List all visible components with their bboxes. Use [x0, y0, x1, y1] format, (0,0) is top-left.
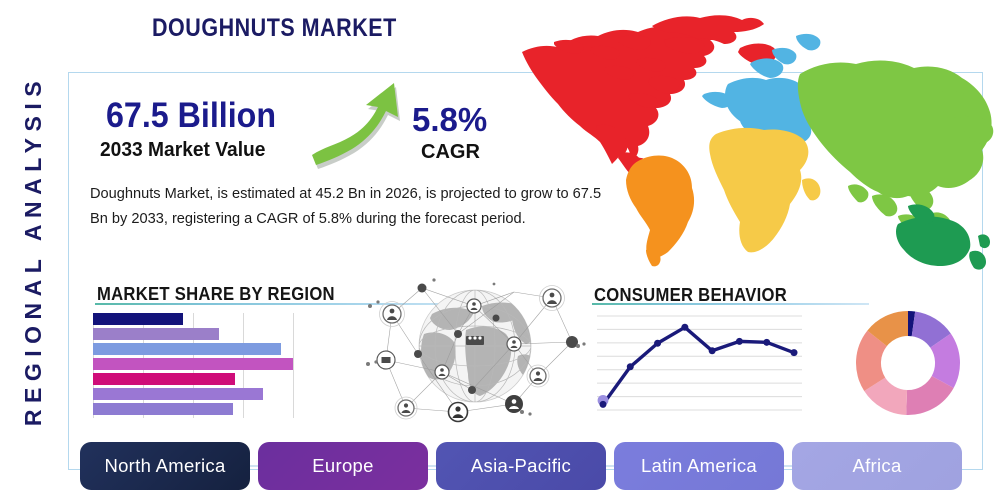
- bar-chart-row: [93, 343, 293, 355]
- bar-chart-bar: [93, 313, 183, 325]
- bar-chart-row: [93, 373, 293, 385]
- line-chart-marker: [736, 338, 743, 345]
- bar-chart-bar: [93, 388, 263, 400]
- line-chart-marker: [709, 347, 716, 354]
- cagr-figure: 5.8%: [412, 101, 487, 139]
- region-button-africa[interactable]: Africa: [792, 442, 962, 490]
- bar-chart-plot-area: [93, 313, 293, 418]
- line-chart-marker: [654, 340, 661, 347]
- bar-chart-row: [93, 313, 293, 325]
- cagr-caption: CAGR: [421, 141, 480, 164]
- line-chart-marker: [600, 401, 607, 408]
- donut-chart-plot-area: [853, 308, 963, 418]
- region-button-label: Asia-Pacific: [471, 455, 571, 477]
- bar-chart-bar: [93, 343, 281, 355]
- bar-chart-bar: [93, 328, 219, 340]
- region-button-connector: [784, 465, 792, 467]
- growth-arrow-icon: [308, 82, 404, 172]
- bar-chart-bar: [93, 373, 235, 385]
- network-globe-icon: [362, 272, 588, 424]
- bar-chart-row: [93, 358, 293, 370]
- region-button-connector: [606, 465, 614, 467]
- region-button-label: Africa: [852, 455, 901, 477]
- region-button-connector: [428, 465, 436, 467]
- segment-donut-chart: [853, 308, 963, 418]
- bar-chart-gridline: [293, 313, 294, 418]
- line-chart-marker: [791, 349, 798, 356]
- market-share-bar-chart: [93, 313, 293, 418]
- region-button-latin-america[interactable]: Latin America: [614, 442, 784, 490]
- region-button-label: Europe: [312, 455, 373, 477]
- region-button-europe[interactable]: Europe: [258, 442, 428, 490]
- line-chart-plot-area: [597, 310, 802, 418]
- bar-chart-row: [93, 328, 293, 340]
- bar-chart-bar: [93, 358, 293, 370]
- world-map-icon: [500, 8, 1000, 270]
- bar-chart-row: [93, 403, 293, 415]
- region-button-north-america[interactable]: North America: [80, 442, 250, 490]
- consumer-behavior-line-chart: [597, 310, 802, 418]
- consumer-behavior-section-rule: [592, 303, 869, 305]
- region-button-connector: [250, 465, 258, 467]
- infographic-page: REGIONAL ANALYSIS DOUGHNUTS MARKET 67.5 …: [0, 0, 1000, 500]
- market-value-caption: 2033 Market Value: [100, 139, 265, 162]
- bar-chart-row: [93, 388, 293, 400]
- line-chart-marker: [763, 339, 770, 346]
- market-share-section-title: MARKET SHARE BY REGION: [97, 283, 335, 305]
- region-button-asia-pacific[interactable]: Asia-Pacific: [436, 442, 606, 490]
- bar-chart-bar: [93, 403, 233, 415]
- region-button-label: North America: [104, 455, 225, 477]
- line-chart-marker: [627, 363, 634, 370]
- market-value-figure: 67.5 Billion: [106, 96, 276, 136]
- line-chart-marker: [681, 324, 688, 331]
- region-button-label: Latin America: [641, 455, 757, 477]
- region-button-row: North AmericaEuropeAsia-PacificLatin Ame…: [80, 440, 980, 492]
